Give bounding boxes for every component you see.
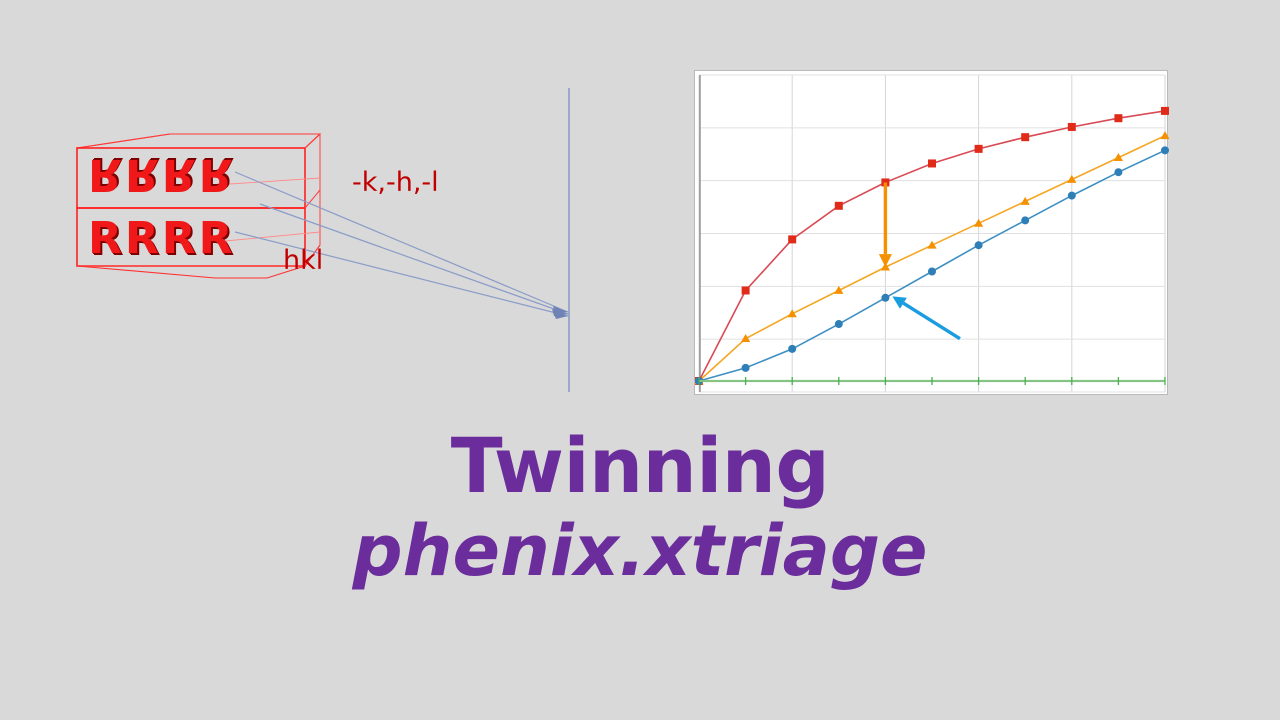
marker-square bbox=[1161, 107, 1169, 115]
marker-triangle bbox=[788, 309, 797, 317]
marker-circle bbox=[928, 268, 936, 276]
box-perspective-faces bbox=[77, 134, 320, 266]
series-blue-circles bbox=[695, 146, 1169, 385]
marker-circle bbox=[835, 320, 843, 328]
marker-triangle bbox=[834, 286, 843, 294]
series-line bbox=[699, 136, 1165, 381]
intensity-plot-panel bbox=[694, 70, 1168, 395]
marker-circle bbox=[881, 294, 889, 302]
marker-triangle bbox=[927, 241, 936, 249]
diagram-vector-layer bbox=[55, 120, 595, 410]
marker-square bbox=[1021, 133, 1029, 141]
series-green-baseline bbox=[699, 377, 1165, 385]
slide-canvas: R R R R R R R R hkl -k,-h,-l Twinning ph… bbox=[0, 0, 1280, 720]
chart-vector-layer bbox=[695, 71, 1169, 396]
marker-square bbox=[1068, 123, 1076, 131]
page-title: Twinning bbox=[0, 424, 1280, 508]
marker-circle bbox=[1161, 146, 1169, 154]
diffraction-arrowheads bbox=[552, 306, 568, 319]
twin-lattice-diagram: R R R R R R R R hkl -k,-h,-l bbox=[55, 120, 595, 410]
marker-triangle bbox=[1021, 197, 1030, 205]
marker-square bbox=[1114, 114, 1122, 122]
box-depth-edges bbox=[77, 134, 320, 266]
marker-triangle bbox=[1160, 131, 1169, 139]
marker-circle bbox=[742, 364, 750, 372]
box-front-faces bbox=[77, 148, 305, 266]
marker-circle bbox=[1021, 216, 1029, 224]
marker-square bbox=[835, 202, 843, 210]
diffraction-arrows bbox=[235, 172, 568, 316]
arrow-shaft bbox=[903, 303, 960, 338]
marker-triangle bbox=[974, 219, 983, 227]
series-orange-triangles bbox=[695, 131, 1169, 384]
marker-square bbox=[788, 235, 796, 243]
marker-triangle bbox=[1067, 175, 1076, 183]
marker-circle bbox=[788, 345, 796, 353]
page-subtitle: phenix.xtriage bbox=[0, 508, 1280, 594]
marker-square bbox=[928, 159, 936, 167]
marker-circle bbox=[1114, 168, 1122, 176]
annotation-blue-pointer-arrow bbox=[892, 296, 960, 338]
marker-circle bbox=[1068, 192, 1076, 200]
title-block: Twinning phenix.xtriage bbox=[0, 424, 1280, 594]
marker-square bbox=[742, 286, 750, 294]
annotation-orange-down-arrow bbox=[879, 182, 892, 267]
marker-square bbox=[975, 145, 983, 153]
box-bottom-wedge bbox=[77, 266, 305, 278]
marker-triangle bbox=[1114, 153, 1123, 161]
marker-triangle bbox=[741, 334, 750, 342]
marker-circle bbox=[975, 241, 983, 249]
